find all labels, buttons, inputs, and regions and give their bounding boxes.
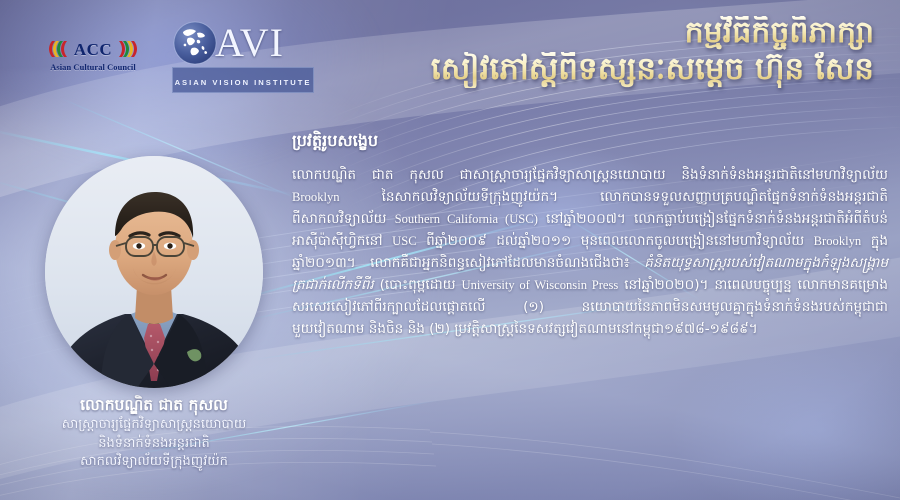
bio-latin-run: Southern California (USC) bbox=[395, 212, 538, 226]
poster-canvas: ACC Asian Cultural Council bbox=[0, 0, 900, 500]
event-title: កម្មវិធីកិច្ចពិភាក្សា សៀវភៅស្ដីពីទស្សនៈស… bbox=[314, 16, 874, 88]
bio-latin-run: Brooklyn bbox=[292, 190, 340, 204]
biography-heading: ប្រវត្តិរូបសង្ខេប bbox=[292, 130, 888, 154]
acc-logo-row: ACC bbox=[40, 38, 146, 60]
speaker-name: លោកបណ្ឌិត ជាត កុសល bbox=[28, 396, 280, 415]
portrait-photo bbox=[45, 156, 263, 388]
acc-acronym: ACC bbox=[74, 41, 112, 58]
bio-latin-run: University of Wisconsin Press bbox=[461, 278, 618, 292]
title-line-1: កម្មវិធីកិច្ចពិភាក្សា bbox=[314, 16, 874, 50]
avi-logo-row: AVI bbox=[172, 20, 314, 65]
avi-logo[interactable]: AVI ASIAN VISION INSTITUTE bbox=[172, 14, 314, 93]
acc-full-name: Asian Cultural Council bbox=[40, 63, 146, 72]
globe-icon bbox=[172, 20, 218, 66]
acc-left-bracket-icon bbox=[48, 38, 70, 60]
portrait-illustration bbox=[45, 156, 263, 388]
avi-name-band: ASIAN VISION INSTITUTE bbox=[172, 67, 314, 93]
biography-panel: ប្រវត្តិរូបសង្ខេប លោកបណ្ឌិត ជាត កុសល ជាស… bbox=[292, 130, 888, 340]
bio-khmer-run: ពីឆ្នាំ២០០៩ ដល់ឆ្នាំ២០១១ មុនពេលលោកចូលបង្… bbox=[417, 233, 814, 249]
logo-bar: ACC Asian Cultural Council bbox=[40, 14, 314, 93]
avi-full-name: ASIAN VISION INSTITUTE bbox=[175, 78, 312, 87]
speaker-panel: លោកបណ្ឌិត ជាត កុសល សាស្ត្រាចារ្យផ្នែកវិទ… bbox=[28, 156, 280, 470]
avi-acronym: AVI bbox=[215, 23, 284, 63]
bio-khmer-run: លោកបណ្ឌិត ជាត កុសល ជាសាស្ត្រាចារ្យផ្នែកវ… bbox=[292, 167, 888, 183]
speaker-caption: លោកបណ្ឌិត ជាត កុសល សាស្ត្រាចារ្យផ្នែកវិទ… bbox=[28, 396, 280, 470]
bio-latin-run: USC bbox=[392, 234, 417, 248]
avatar bbox=[45, 156, 263, 388]
speaker-role-line-2: និងទំនាក់ទំនងអន្តរជាតិ bbox=[28, 435, 280, 452]
title-line-2: សៀវភៅស្ដីពីទស្សនៈសម្ដេច ហ៊ុន សែន bbox=[314, 52, 874, 87]
bio-latin-run: Brooklyn bbox=[814, 234, 862, 248]
acc-right-bracket-icon bbox=[116, 38, 138, 60]
speaker-role-line-3: សាកលវិទ្យាល័យទីក្រុងញូវយ៉ក bbox=[28, 453, 280, 470]
bio-khmer-run: (បោះពុម្ពដោយ bbox=[374, 277, 462, 293]
acc-logo[interactable]: ACC Asian Cultural Council bbox=[40, 14, 146, 72]
speaker-role-line-1: សាស្ត្រាចារ្យផ្នែកវិទ្យាសាស្ត្រនយោបាយ bbox=[28, 416, 280, 433]
biography-text: លោកបណ្ឌិត ជាត កុសល ជាសាស្ត្រាចារ្យផ្នែកវ… bbox=[292, 164, 888, 340]
